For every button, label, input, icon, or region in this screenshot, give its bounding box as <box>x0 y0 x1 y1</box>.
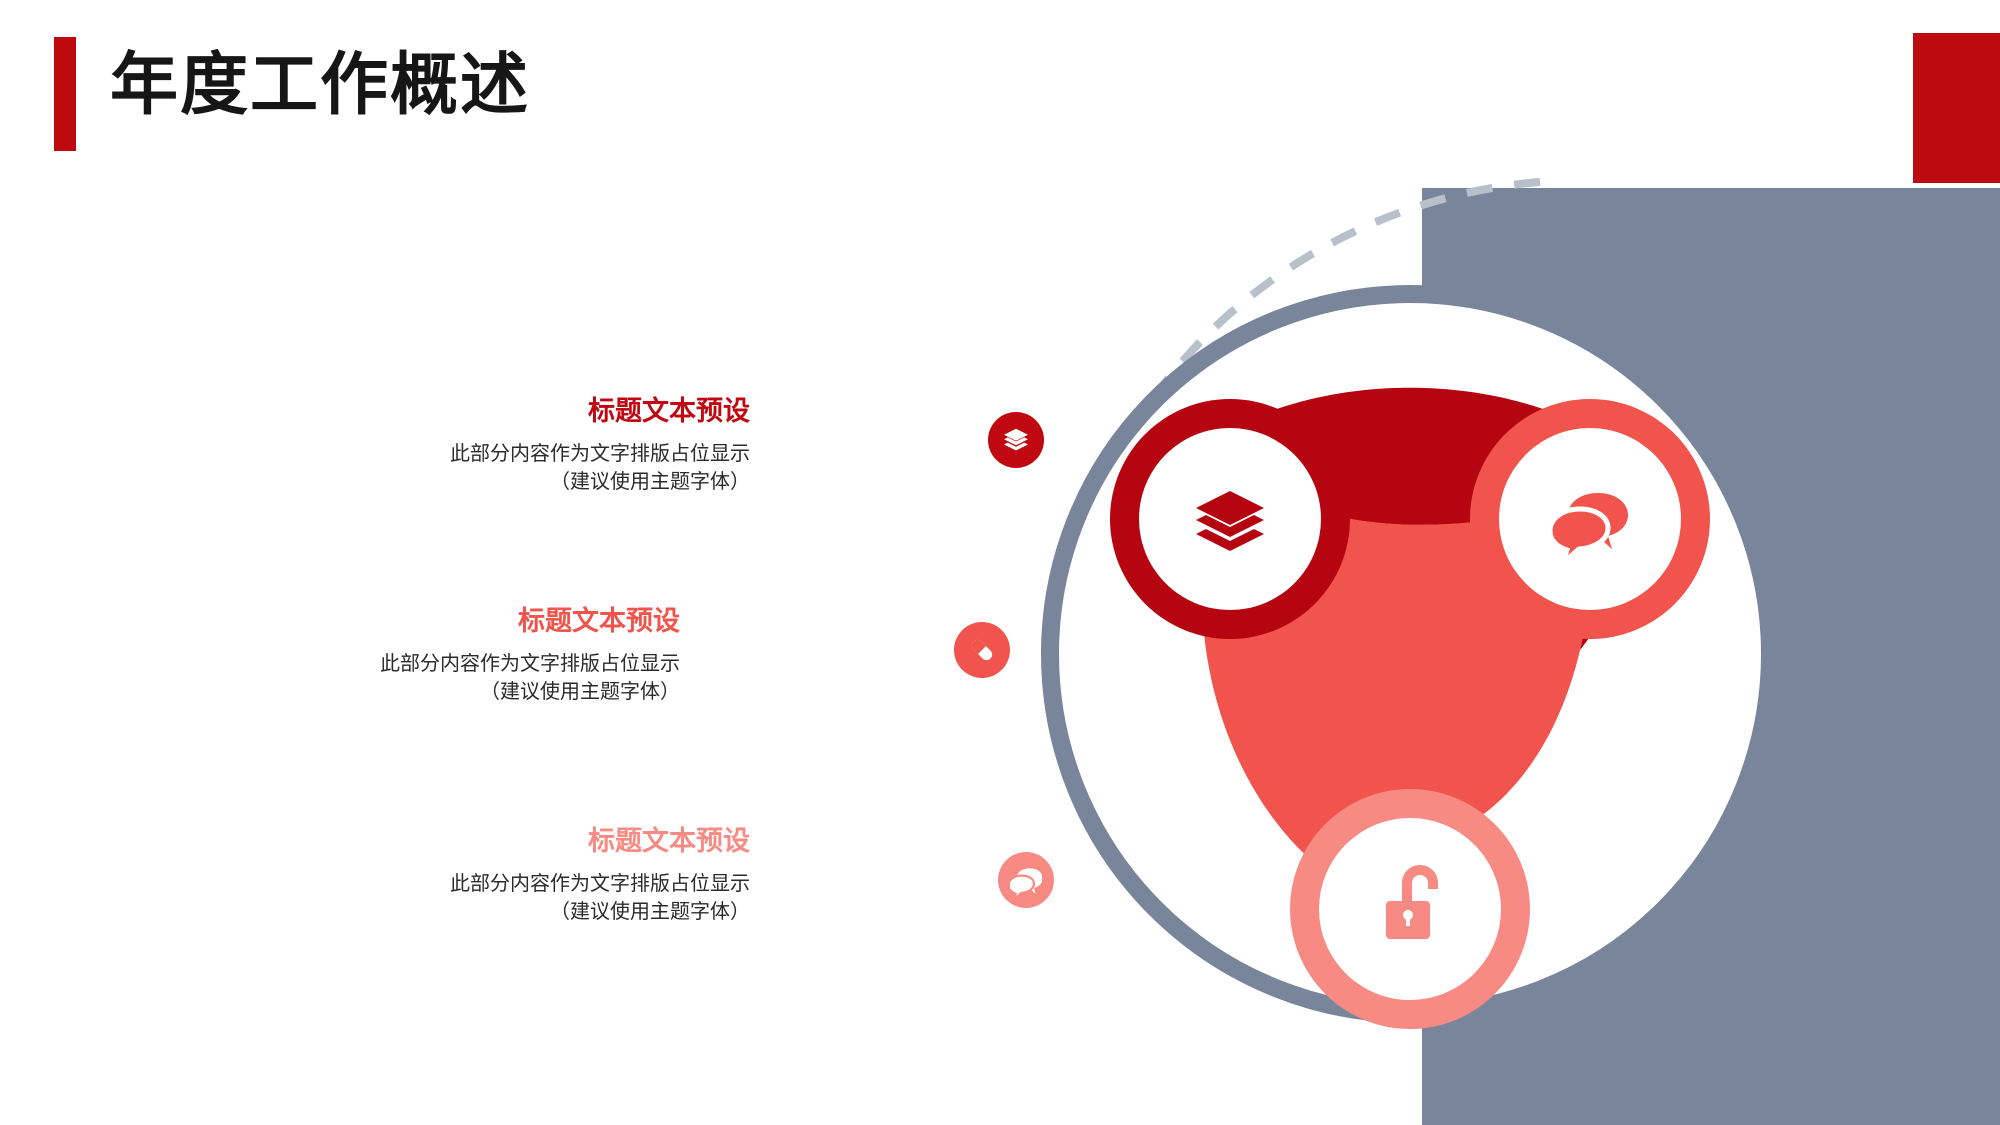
text-block-3-body-line2: （建议使用主题字体） <box>230 899 750 927</box>
badge-marker-3[interactable] <box>998 852 1054 908</box>
text-block-1: 标题文本预设 此部分内容作为文字排版占位显示 （建议使用主题字体） <box>230 395 750 497</box>
text-block-3-body-line1: 此部分内容作为文字排版占位显示 <box>230 871 750 899</box>
text-block-1-body-line1: 此部分内容作为文字排版占位显示 <box>230 441 750 469</box>
diagram-node-top-right <box>1470 399 1710 639</box>
layers-icon <box>1001 425 1031 455</box>
text-block-3: 标题文本预设 此部分内容作为文字排版占位显示 （建议使用主题字体） <box>230 825 750 927</box>
badge-marker-2[interactable] <box>954 622 1010 678</box>
diagram-node-top-left <box>1110 399 1350 639</box>
text-block-1-title: 标题文本预设 <box>230 395 750 427</box>
text-block-2-body-line1: 此部分内容作为文字排版占位显示 <box>160 651 680 679</box>
capsule-icon <box>966 634 998 666</box>
triskelion-diagram <box>1035 279 1785 1029</box>
text-block-2: 标题文本预设 此部分内容作为文字排版占位显示 （建议使用主题字体） <box>160 605 680 707</box>
diagram-node-bottom <box>1290 789 1530 1029</box>
text-block-1-body-line2: （建议使用主题字体） <box>230 469 750 497</box>
chat-bubbles-icon <box>1010 864 1042 896</box>
text-block-2-body-line2: （建议使用主题字体） <box>160 679 680 707</box>
slide-canvas: 年度工作概述 <box>0 0 2000 1125</box>
badge-marker-1[interactable] <box>988 412 1044 468</box>
top-right-red-block <box>1913 33 2000 183</box>
text-block-2-title: 标题文本预设 <box>160 605 680 637</box>
text-block-3-title: 标题文本预设 <box>230 825 750 857</box>
title-accent-bar <box>54 37 76 151</box>
page-title: 年度工作概述 <box>110 48 530 123</box>
